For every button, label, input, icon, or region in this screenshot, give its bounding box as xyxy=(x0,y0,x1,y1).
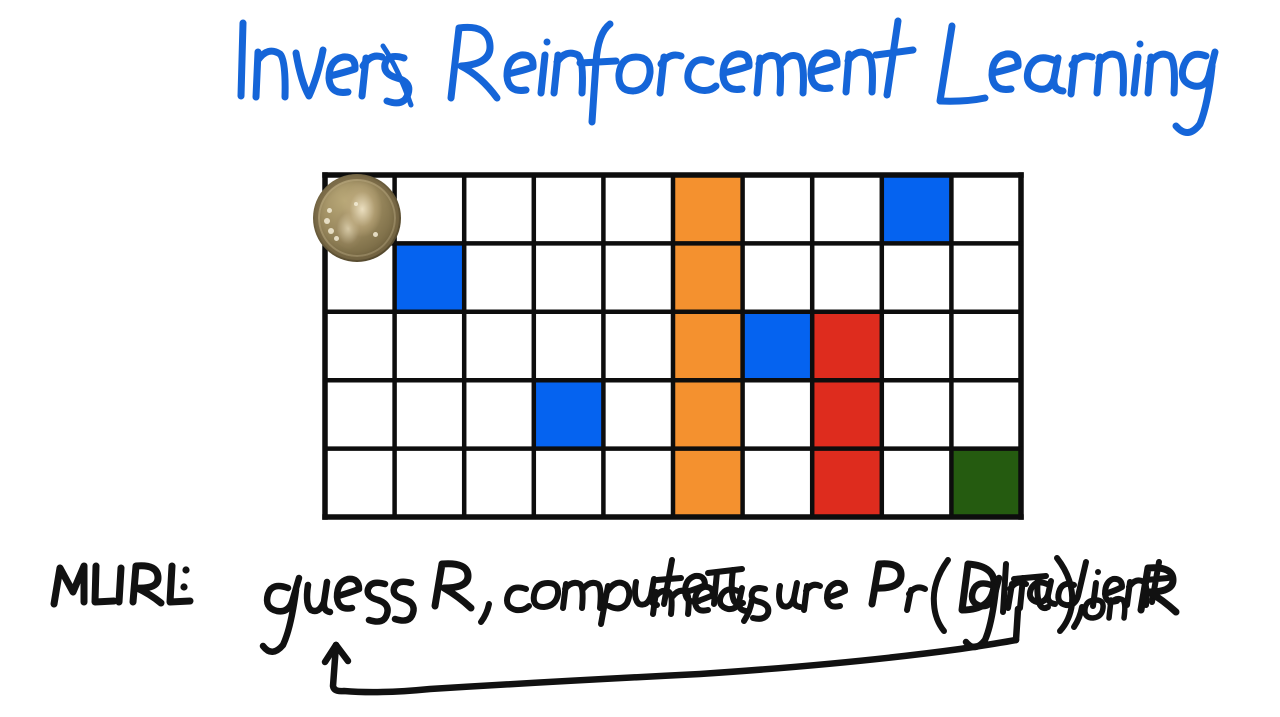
notes-layer xyxy=(0,0,1280,717)
slide-canvas: Inverse Reinforcement Learning MLIRL: gu… xyxy=(0,0,1280,717)
notes-ink-strokes xyxy=(54,558,1176,692)
